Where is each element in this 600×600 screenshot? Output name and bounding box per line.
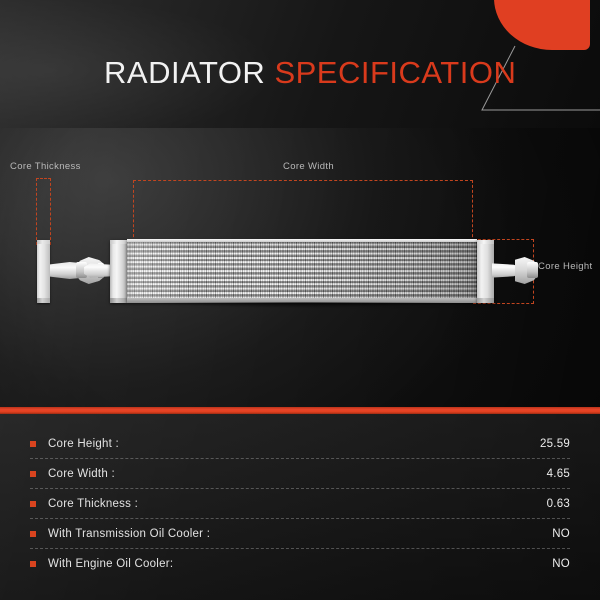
label-core-width: Core Width — [283, 161, 334, 172]
spec-value: NO — [552, 528, 570, 540]
spec-value: 4.65 — [547, 468, 570, 480]
spec-label: With Transmission Oil Cooler : — [48, 528, 210, 540]
table-row: Core Thickness :0.63 — [30, 488, 570, 518]
table-row: Core Width :4.65 — [30, 458, 570, 488]
spec-value: NO — [552, 558, 570, 570]
table-row: With Transmission Oil Cooler :NO — [30, 518, 570, 548]
radiator-specification-page: RADIATOR SPECIFICATION Core Thickness Co… — [0, 0, 600, 600]
title-word-specification: SPECIFICATION — [274, 55, 516, 90]
left-end-tank — [110, 240, 127, 303]
label-core-thickness: Core Thickness — [10, 161, 81, 172]
specification-table: Core Height :25.59Core Width :4.65Core T… — [0, 414, 600, 600]
page-title: RADIATOR SPECIFICATION — [104, 52, 524, 94]
left-tank-top-cap — [110, 240, 127, 244]
bullet-icon — [30, 471, 36, 477]
core-sheen — [127, 240, 477, 303]
right-tank-top-cap — [477, 240, 494, 244]
right-end-tank — [477, 240, 494, 303]
table-row: Core Height :25.59 — [30, 429, 570, 458]
bullet-icon — [30, 501, 36, 507]
spec-label: Core Height : — [48, 438, 119, 450]
spec-value: 0.63 — [547, 498, 570, 510]
spec-label: Core Width : — [48, 468, 115, 480]
spec-value: 25.59 — [540, 438, 570, 450]
label-core-height: Core Height — [538, 261, 593, 272]
dimension-bracket-width — [133, 180, 473, 242]
side-slab-top-cap — [37, 240, 50, 244]
drop-shadow — [100, 302, 510, 318]
table-row: With Engine Oil Cooler:NO — [30, 548, 570, 578]
title-word-radiator: RADIATOR — [104, 55, 274, 90]
dimension-bracket-thickness — [36, 178, 51, 245]
core-side-view-slab — [37, 240, 50, 303]
header-banner: RADIATOR SPECIFICATION — [0, 0, 600, 128]
bullet-icon — [30, 531, 36, 537]
core-top-edge — [127, 239, 477, 242]
spec-label: Core Thickness : — [48, 498, 138, 510]
bullet-icon — [30, 561, 36, 567]
bullet-icon — [30, 441, 36, 447]
spec-row-list: Core Height :25.59Core Width :4.65Core T… — [0, 429, 600, 578]
spec-label: With Engine Oil Cooler: — [48, 558, 173, 570]
side-slab-bottom-cap — [37, 298, 50, 303]
outlet-fitting-tip — [527, 262, 538, 278]
red-divider-bar — [0, 407, 600, 414]
